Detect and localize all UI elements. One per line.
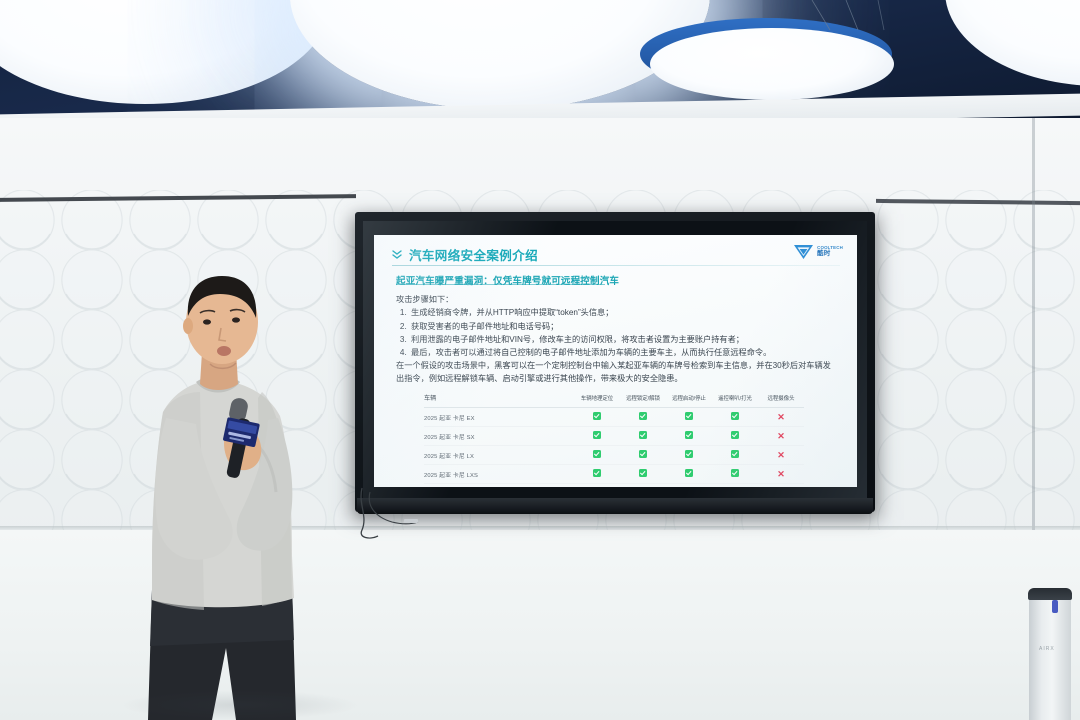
presenter: [0, 0, 1080, 720]
air-purifier-top: [1028, 588, 1072, 600]
air-purifier-brand: AIRX: [1039, 646, 1055, 652]
presenter-floor-shadow: [120, 690, 360, 720]
presentation-room-photo: 汽车网络安全案例介绍 COOLTECH 酷时 起亚汽车曝严重漏洞：仅凭车牌: [0, 0, 1080, 720]
air-purifier-indicator: [1052, 600, 1058, 613]
air-purifier: [1029, 592, 1071, 720]
